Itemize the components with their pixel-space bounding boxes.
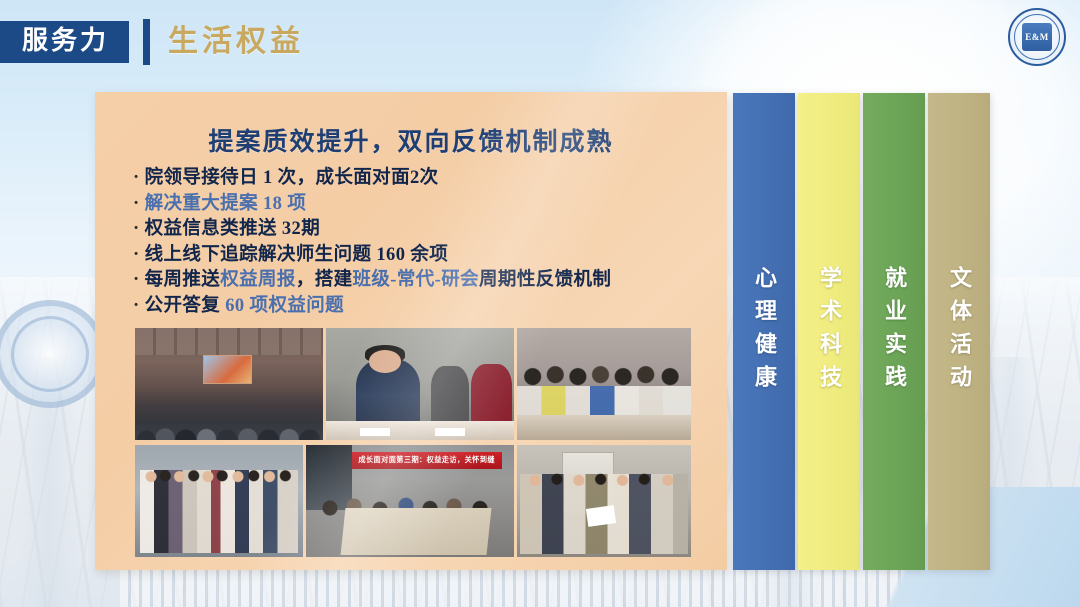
photo-students-round-table: [517, 328, 691, 440]
bullet-marker: ·: [133, 245, 140, 265]
bullet-marker: ·: [133, 296, 140, 316]
page-title: 生活权益: [168, 27, 304, 57]
bullet-text: 权益信息类推送 32期: [145, 219, 321, 239]
category-bar-culture-sports[interactable]: 文体活动: [928, 93, 990, 570]
bullet-marker: ·: [133, 270, 140, 290]
list-item: ·解决重大提案 18 项: [133, 192, 711, 218]
photo-row-top: [135, 328, 691, 440]
name-card-one: [360, 428, 390, 436]
auditorium-ceiling: [135, 328, 323, 355]
bullet-text-part: ，搭建: [296, 270, 353, 290]
visit-group-faces: [520, 472, 687, 487]
long-table: [517, 415, 691, 440]
bullet-text-highlight: 班级-常代-研会: [353, 270, 480, 290]
meeting-table: [341, 508, 492, 555]
bullet-text-highlight: 60 项权益问题: [225, 296, 344, 316]
logo-monogram: E&M: [1022, 23, 1052, 51]
category-bar-label: 文体活动: [948, 266, 970, 398]
conference-table: [326, 421, 514, 440]
photo-meeting-room-banner: 成长面对面第三期：权益走访，关怀到缝: [306, 445, 514, 557]
bullet-text-part: 公开答复: [145, 296, 226, 316]
photo-woman-speaking-microphone: [326, 328, 514, 440]
slide-canvas: 服务力 生活权益 E&M 提案质效提升，双向反馈机制成熟 ·院领导接待日 1 次…: [0, 0, 1080, 607]
photo-collage: 成长面对面第三期：权益走访，关怀到缝: [135, 328, 691, 557]
content-panel: 提案质效提升，双向反馈机制成熟 ·院领导接待日 1 次，成长面对面2次 ·解决重…: [95, 92, 727, 570]
event-banner-text: 成长面对面第三期：权益走访，关怀到缝: [358, 455, 495, 465]
slide-header: 服务力 生活权益: [0, 16, 304, 68]
speaker-face: [369, 350, 401, 372]
university-logo-icon: E&M: [1008, 8, 1066, 66]
header-divider-rule: [143, 19, 150, 65]
bullet-text-part: 周期性反馈机制: [479, 270, 611, 290]
attendee-body-one: [431, 366, 469, 426]
group-faces: [140, 467, 298, 483]
bullet-list: ·院领导接待日 1 次，成长面对面2次 ·解决重大提案 18 项 ·权益信息类推…: [133, 166, 711, 319]
attendee-body-two: [471, 364, 512, 427]
category-bar-label: 心理健康: [753, 266, 775, 398]
photo-row-bottom: 成长面对面第三期：权益走访，关怀到缝: [135, 445, 691, 557]
photo-group-standing-portrait: [135, 445, 303, 557]
photo-dormitory-visit-group: [517, 445, 691, 557]
list-item: ·每周推送权益周报，搭建班级-常代-研会周期性反馈机制: [133, 268, 711, 294]
logo-monogram-text: E&M: [1025, 32, 1049, 42]
category-bar-academic-tech[interactable]: 学术科技: [798, 93, 860, 570]
bullet-text: 线上线下追踪解决师生问题 160 余项: [145, 245, 449, 265]
category-bar-mental-health[interactable]: 心理健康: [733, 93, 795, 570]
auditorium-screen: [203, 355, 252, 384]
bullet-marker: ·: [133, 168, 140, 188]
list-item: ·线上线下追踪解决师生问题 160 余项: [133, 243, 711, 269]
bullet-text-part: 每周推送: [145, 270, 221, 290]
bullet-text: 解决重大提案 18 项: [145, 194, 307, 214]
category-bar-label: 学术科技: [818, 266, 840, 398]
name-card-two: [435, 428, 465, 436]
bullet-text: 院领导接待日 1 次，成长面对面2次: [145, 168, 439, 188]
bullet-marker: ·: [133, 194, 140, 214]
bullet-text-highlight: 权益周报: [220, 270, 296, 290]
list-item: ·院领导接待日 1 次，成长面对面2次: [133, 166, 711, 192]
category-bar-employment-practice[interactable]: 就业实践: [863, 93, 925, 570]
bullet-marker: ·: [133, 219, 140, 239]
panel-heading: 提案质效提升，双向反馈机制成熟: [95, 122, 727, 158]
list-item: ·权益信息类推送 32期: [133, 217, 711, 243]
list-item: ·公开答复 60 项权益问题: [133, 294, 711, 320]
auditorium-audience: [135, 388, 323, 440]
photo-auditorium-assembly: [135, 328, 323, 440]
header-category-tag: 服务力: [0, 21, 129, 63]
held-document: [585, 505, 615, 527]
event-banner: 成长面对面第三期：权益走访，关怀到缝: [352, 452, 502, 469]
category-bar-label: 就业实践: [883, 266, 905, 398]
